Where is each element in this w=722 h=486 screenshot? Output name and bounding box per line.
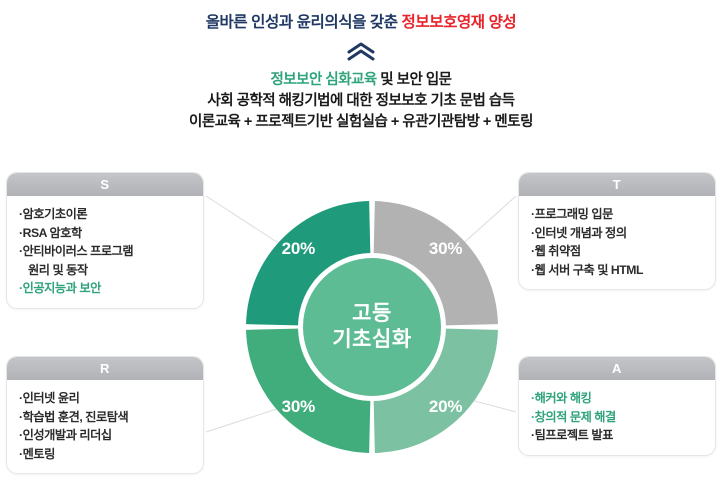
info-box-r-header: R [7,357,203,380]
list-item: ·인공지능과 보안 [19,279,203,298]
list-item: ·인성개발과 리더십 [19,426,203,445]
subtitle-line-1: 정보보안 심화교육 및 보안 입문 [0,70,722,91]
subtitle-line-2: 사회 공학적 해킹기법에 대한 정보보호 기초 문법 습득 [0,91,722,112]
list-item: ·학습법 훈견, 진로탐색 [19,408,203,427]
info-box-a-body: ·해커와 해킹 ·창의적 문제 해결 ·팀프로젝트 발표 [519,380,715,455]
donut-center-circle [303,258,441,396]
info-box-s[interactable]: S ·암호기초이론 ·RSA 암호학 ·안티바이러스 프로그램 원리 및 동작 … [6,172,204,309]
info-box-r[interactable]: R ·인터넷 윤리 ·학습법 훈견, 진로탐색 ·인성개발과 리더십 ·멘토링 [6,356,204,474]
page-title-dark-part: 올바른 인성과 윤리의식을 갖춘 [206,14,402,31]
donut-chart: 20%30%20%30% 고등 기초심화 [241,196,503,458]
subtitle-block: 정보보안 심화교육 및 보안 입문 사회 공학적 해킹기법에 대한 정보보호 기… [0,70,722,133]
chevron-wrapper [0,42,722,64]
list-item: ·웹 취약점 [531,242,715,261]
list-item: ·안티바이러스 프로그램 [19,242,203,261]
info-box-s-header: S [7,173,203,196]
list-item: ·창의적 문제 해결 [531,408,715,427]
list-item: ·웹 서버 구축 및 HTML [531,261,715,280]
list-item: ·프로그래밍 입문 [531,205,715,224]
list-item: 원리 및 동작 [19,261,203,280]
info-box-a-header: A [519,357,715,380]
info-box-s-body: ·암호기초이론 ·RSA 암호학 ·안티바이러스 프로그램 원리 및 동작 ·인… [7,196,203,308]
subtitle-line-3: 이론교육 + 프로젝트기반 실험실습 + 유관기관탐방 + 멘토링 [0,112,722,133]
page-title: 올바른 인성과 윤리의식을 갖춘 정보보호영재 양성 [0,0,722,33]
list-item: ·멘토링 [19,445,203,464]
info-box-t-body: ·프로그래밍 입문 ·인터넷 개념과 정의 ·웹 취약점 ·웹 서버 구축 및 … [519,196,715,289]
list-item: ·인터넷 개념과 정의 [531,224,715,243]
info-box-t[interactable]: T ·프로그래밍 입문 ·인터넷 개념과 정의 ·웹 취약점 ·웹 서버 구축 … [518,172,716,290]
list-item: ·해커와 해킹 [531,389,715,408]
subtitle-green-part: 정보보안 심화교육 [270,72,376,88]
header-block: 올바른 인성과 윤리의식을 갖춘 정보보호영재 양성 정보보안 심화교육 및 보… [0,0,722,133]
donut-label-t: 30% [429,239,463,258]
double-chevron-up-icon [344,42,378,69]
info-box-r-body: ·인터넷 윤리 ·학습법 훈견, 진로탐색 ·인성개발과 리더십 ·멘토링 [7,380,203,473]
list-item: ·인터넷 윤리 [19,389,203,408]
donut-label-s: 20% [282,239,316,258]
list-item: ·암호기초이론 [19,205,203,224]
donut-label-a: 20% [429,397,463,416]
info-box-t-header: T [519,173,715,196]
donut-label-r: 30% [282,397,316,416]
page-title-red-part: 정보보호영재 양성 [402,14,517,31]
list-item: ·RSA 암호학 [19,224,203,243]
subtitle-rest-part: 및 보안 입문 [377,72,452,88]
list-item: ·팀프로젝트 발표 [531,426,715,445]
info-box-a[interactable]: A ·해커와 해킹 ·창의적 문제 해결 ·팀프로젝트 발표 [518,356,716,456]
